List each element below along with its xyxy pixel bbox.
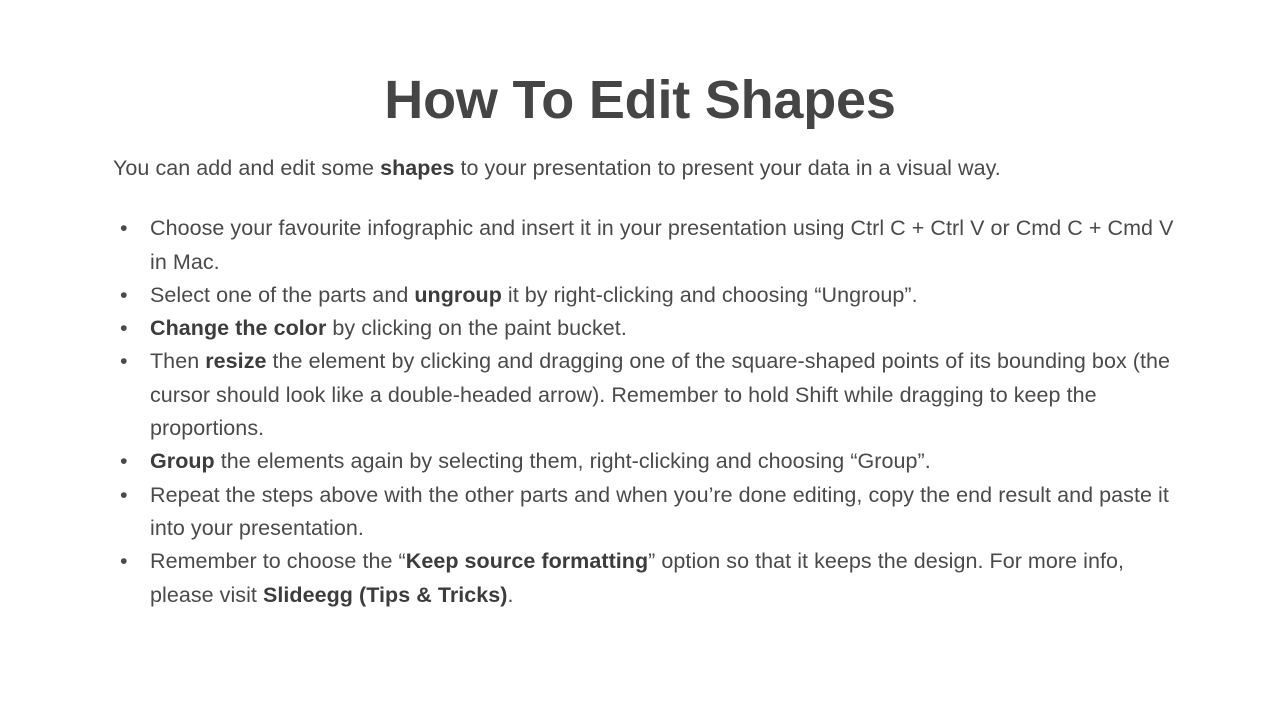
body-text: the elements again by selecting them, ri… [215,449,931,473]
list-item: •Select one of the parts and ungroup it … [113,279,1181,312]
body-text: Remember to choose the “ [150,549,406,573]
slide-canvas: How To Edit Shapes You can add and edit … [0,0,1280,720]
body-text: to your presentation to present your dat… [454,156,1000,180]
emphasis-text: resize [205,349,266,373]
body-text: Then [150,349,205,373]
emphasis-text: Group [150,449,215,473]
body-text: it by right-clicking and choosing “Ungro… [502,283,918,307]
bullet-dot-icon: • [120,312,134,345]
page-title: How To Edit Shapes [0,64,1280,136]
body-text: Choose your favourite infographic and in… [150,216,1173,273]
bullet-dot-icon: • [120,345,134,378]
list-item: •Repeat the steps above with the other p… [113,479,1181,546]
bullet-ungroup: Select one of the parts and ungroup it b… [150,279,1181,312]
emphasis-text: Slideegg (Tips & Tricks) [263,583,508,607]
list-item: •Then resize the element by clicking and… [113,345,1181,445]
bullet-dot-icon: • [120,545,134,578]
list-item: •Choose your favourite infographic and i… [113,212,1181,279]
bullet-keep-source-formatting: Remember to choose the “Keep source form… [150,545,1181,612]
bullet-choose-infographic: Choose your favourite infographic and in… [150,212,1181,279]
body-text: Repeat the steps above with the other pa… [150,483,1169,540]
list-item: •Group the elements again by selecting t… [113,445,1181,478]
body-text: Select one of the parts and [150,283,414,307]
bullet-resize: Then resize the element by clicking and … [150,345,1181,445]
emphasis-text: ungroup [414,283,502,307]
list-item: •Remember to choose the “Keep source for… [113,545,1181,612]
bullet-group: Group the elements again by selecting th… [150,445,1181,478]
bullet-dot-icon: • [120,212,134,245]
bullet-repeat: Repeat the steps above with the other pa… [150,479,1181,546]
body-text: You can add and edit some [113,156,380,180]
bullet-dot-icon: • [120,445,134,478]
body-text: the element by clicking and dragging one… [150,349,1170,440]
bullet-change-color: Change the color by clicking on the pain… [150,312,1181,345]
body-text: by clicking on the paint bucket. [326,316,626,340]
intro-paragraph: You can add and edit some shapes to your… [113,152,1181,185]
body-text: . [508,583,514,607]
emphasis-text: shapes [380,156,454,180]
emphasis-text: Change the color [150,316,326,340]
bullet-dot-icon: • [120,479,134,512]
emphasis-text: Keep source formatting [406,549,648,573]
instruction-bullet-list: •Choose your favourite infographic and i… [113,212,1181,612]
list-item: •Change the color by clicking on the pai… [113,312,1181,345]
slide-body: You can add and edit some shapes to your… [113,152,1181,612]
bullet-dot-icon: • [120,279,134,312]
